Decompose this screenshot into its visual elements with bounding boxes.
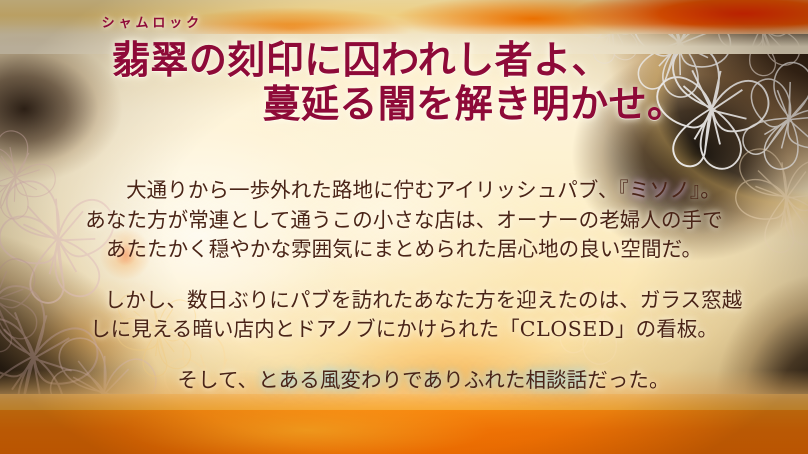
text-segment: しに見える暗い店内とドアノブにかけられた「: [90, 317, 520, 341]
text-segment: あたたかく穏やかな雰囲気にまとめられた居心地の良い空間だ。: [106, 237, 702, 261]
ruby-base-text: 翡翠: [112, 37, 189, 82]
ruby-furigana: シャムロック: [98, 17, 203, 31]
latin-term: CLOSED: [520, 317, 615, 341]
p2-l2: しに見える暗い店内とドアノブにかけられた「CLOSED」の看板。: [0, 315, 808, 345]
p1-l1: 大通りから一歩外れた路地に佇むアイリッシュパブ、『ミソノ』。: [0, 176, 808, 206]
p1-l3: あたたかく穏やかな雰囲気にまとめられた居心地の良い空間だ。: [0, 235, 808, 265]
scenario-title: シャムロック 翡翠 の刻印に囚われし者よ、 蔓延る闇を解き明かせ。: [0, 40, 808, 123]
p2-l1: しかし、数日ぶりにパブを訪れたあなた方を迎えたのは、ガラス窓越: [0, 286, 808, 316]
text-segment: そして、: [177, 368, 258, 392]
title-line-1: シャムロック 翡翠 の刻印に囚われし者よ、: [0, 40, 808, 80]
text-segment: しかし、数日ぶりにパブを訪れたあなた方を迎えたのは、ガラス窓越: [105, 288, 743, 312]
title-line-2: 蔓延る闇を解き明かせ。: [0, 84, 808, 124]
text-segment: あなた方が常連として通うこの小さな店は、オーナーの老婦人の手で: [85, 208, 722, 232]
title-card-canvas: シャムロック 翡翠 の刻印に囚われし者よ、 蔓延る闇を解き明かせ。 大通りから一…: [0, 0, 808, 454]
title-line-1-rest: の刻印に囚われし者よ、: [189, 37, 610, 82]
highlighted-term-cyan: とある風変わりでありふれた相談話: [258, 368, 587, 392]
text-segment: 」の看板。: [615, 317, 718, 341]
p1-l2: あなた方が常連として通うこの小さな店は、オーナーの老婦人の手で: [0, 206, 808, 236]
ruby-group: シャムロック 翡翠: [112, 40, 189, 80]
paragraph-3: そして、とある風変わりでありふれた相談話だった。: [0, 366, 808, 396]
card-content: シャムロック 翡翠 の刻印に囚われし者よ、 蔓延る闇を解き明かせ。 大通りから一…: [0, 0, 808, 454]
scenario-body: 大通りから一歩外れた路地に佇むアイリッシュパブ、『ミソノ』。あなた方が常連として…: [0, 176, 808, 395]
text-segment: 大通りから一歩外れた路地に佇むアイリッシュパブ、『: [126, 178, 629, 202]
highlighted-term-violet: ミソノ: [629, 178, 690, 202]
paragraph-2: しかし、数日ぶりにパブを訪れたあなた方を迎えたのは、ガラス窓越しに見える暗い店内…: [0, 286, 808, 345]
text-segment: 』。: [690, 178, 721, 202]
text-segment: だった。: [587, 368, 669, 392]
p3-l1: そして、とある風変わりでありふれた相談話だった。: [0, 366, 808, 396]
paragraph-1: 大通りから一歩外れた路地に佇むアイリッシュパブ、『ミソノ』。あなた方が常連として…: [0, 176, 808, 265]
